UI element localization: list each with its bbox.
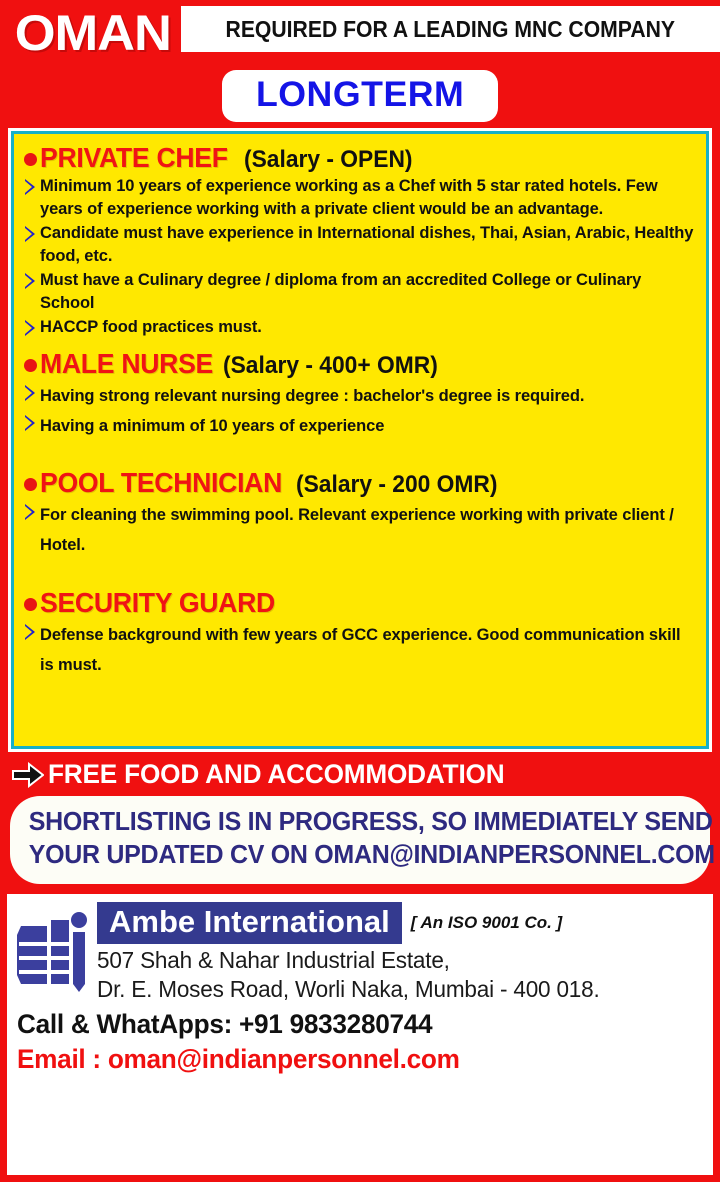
job-listing: MALE NURSE (Salary - 400+ OMR) Having st…	[24, 348, 696, 441]
job-title-row: MALE NURSE (Salary - 400+ OMR)	[24, 348, 696, 380]
jobs-panel-outer: PRIVATE CHEF (Salary - OPEN) Minimum 10 …	[8, 128, 712, 752]
list-item: Having a minimum of 10 years of experien…	[24, 411, 696, 441]
job-listing: PRIVATE CHEF (Salary - OPEN) Minimum 10 …	[24, 142, 696, 339]
requirement-text: Defense background with few years of GCC…	[40, 620, 696, 680]
requirement-text: Must have a Culinary degree / diploma fr…	[40, 269, 696, 315]
ambe-eij-logo-icon	[17, 906, 91, 994]
cv-notice-box: SHORTLISTING IS IN PROGRESS, SO IMMEDIAT…	[10, 796, 710, 884]
required-banner: REQUIRED FOR A LEADING MNC COMPANY	[181, 6, 720, 52]
red-dot-bullet-icon	[24, 153, 37, 166]
job-requirements: Defense background with few years of GCC…	[24, 620, 696, 680]
footer: Ambe International [ An ISO 9001 Co. ] 5…	[7, 894, 713, 1175]
term-badge-text: LONGTERM	[256, 75, 464, 115]
iso-certification: [ An ISO 9001 Co. ]	[411, 913, 562, 933]
list-item: Having strong relevant nursing degree : …	[24, 381, 696, 411]
job-title: SECURITY GUARD	[40, 587, 275, 619]
poster-header: OMAN REQUIRED FOR A LEADING MNC COMPANY …	[0, 0, 720, 128]
requirement-text: Having a minimum of 10 years of experien…	[40, 411, 696, 441]
job-title-row: POOL TECHNICIAN (Salary - 200 OMR)	[24, 467, 696, 499]
job-salary: (Salary - 200 OMR)	[296, 471, 497, 499]
company-info: Ambe International [ An ISO 9001 Co. ] 5…	[97, 902, 713, 1004]
job-salary: (Salary - 400+ OMR)	[223, 352, 438, 380]
triangle-bullet-icon	[24, 415, 37, 431]
list-item: HACCP food practices must.	[24, 316, 696, 339]
job-title-row: PRIVATE CHEF (Salary - OPEN)	[24, 142, 696, 174]
recruitment-poster: OMAN REQUIRED FOR A LEADING MNC COMPANY …	[0, 0, 720, 1182]
list-item: Defense background with few years of GCC…	[24, 620, 696, 680]
requirement-text: For cleaning the swimming pool. Relevant…	[40, 500, 696, 560]
job-requirements: Having strong relevant nursing degree : …	[24, 381, 696, 441]
triangle-bullet-icon	[24, 273, 37, 289]
list-item: Must have a Culinary degree / diploma fr…	[24, 269, 696, 315]
job-listing: SECURITY GUARD Defense background with f…	[24, 587, 696, 680]
list-item: Minimum 10 years of experience working a…	[24, 175, 696, 221]
required-banner-text: REQUIRED FOR A LEADING MNC COMPANY	[226, 16, 675, 43]
requirement-text: Candidate must have experience in Intern…	[40, 222, 696, 268]
job-title: POOL TECHNICIAN	[40, 467, 282, 499]
cv-notice-line-1: SHORTLISTING IS IN PROGRESS, SO IMMEDIAT…	[29, 806, 691, 839]
red-dot-bullet-icon	[24, 598, 37, 611]
triangle-bullet-icon	[24, 624, 37, 640]
cv-notice-line-2: YOUR UPDATED CV ON OMAN@INDIANPERSONNEL.…	[29, 839, 691, 872]
list-item: Candidate must have experience in Intern…	[24, 222, 696, 268]
job-requirements: Minimum 10 years of experience working a…	[24, 175, 696, 339]
term-badge-wrap: LONGTERM	[0, 72, 720, 120]
benefits-text: FREE FOOD AND ACCOMMODATION	[48, 759, 504, 790]
list-item: For cleaning the swimming pool. Relevant…	[24, 500, 696, 560]
red-dot-bullet-icon	[24, 359, 37, 372]
term-badge: LONGTERM	[224, 72, 496, 120]
job-title: PRIVATE CHEF	[40, 142, 228, 174]
requirement-text: HACCP food practices must.	[40, 316, 696, 339]
jobs-panel: PRIVATE CHEF (Salary - OPEN) Minimum 10 …	[11, 131, 709, 749]
requirement-text: Having strong relevant nursing degree : …	[40, 381, 696, 411]
company-name: Ambe International	[109, 904, 390, 940]
benefits-row: FREE FOOD AND ACCOMMODATION	[0, 752, 720, 796]
red-dot-bullet-icon	[24, 478, 37, 491]
country-title: OMAN	[0, 0, 171, 64]
address-line-2: Dr. E. Moses Road, Worli Naka, Mumbai - …	[97, 975, 701, 1004]
triangle-bullet-icon	[24, 504, 37, 520]
header-top-row: OMAN REQUIRED FOR A LEADING MNC COMPANY	[0, 0, 720, 68]
triangle-bullet-icon	[24, 179, 37, 195]
job-salary: (Salary - OPEN)	[244, 146, 413, 174]
address-line-1: 507 Shah & Nahar Industrial Estate,	[97, 946, 701, 975]
job-listing: POOL TECHNICIAN (Salary - 200 OMR) For c…	[24, 467, 696, 560]
phone-contact[interactable]: Call & WhatApps: +91 9833280744	[17, 1006, 692, 1042]
company-name-row: Ambe International [ An ISO 9001 Co. ]	[97, 902, 713, 944]
triangle-bullet-icon	[24, 385, 37, 401]
right-arrow-icon	[12, 762, 44, 788]
job-requirements: For cleaning the swimming pool. Relevant…	[24, 500, 696, 560]
triangle-bullet-icon	[24, 226, 37, 242]
company-name-box: Ambe International	[97, 902, 402, 944]
job-title-row: SECURITY GUARD	[24, 587, 696, 619]
company-row: Ambe International [ An ISO 9001 Co. ] 5…	[17, 902, 713, 1004]
triangle-bullet-icon	[24, 320, 37, 336]
job-title: MALE NURSE	[40, 348, 213, 380]
requirement-text: Minimum 10 years of experience working a…	[40, 175, 696, 221]
email-contact[interactable]: Email : oman@indianpersonnel.com	[17, 1042, 692, 1077]
